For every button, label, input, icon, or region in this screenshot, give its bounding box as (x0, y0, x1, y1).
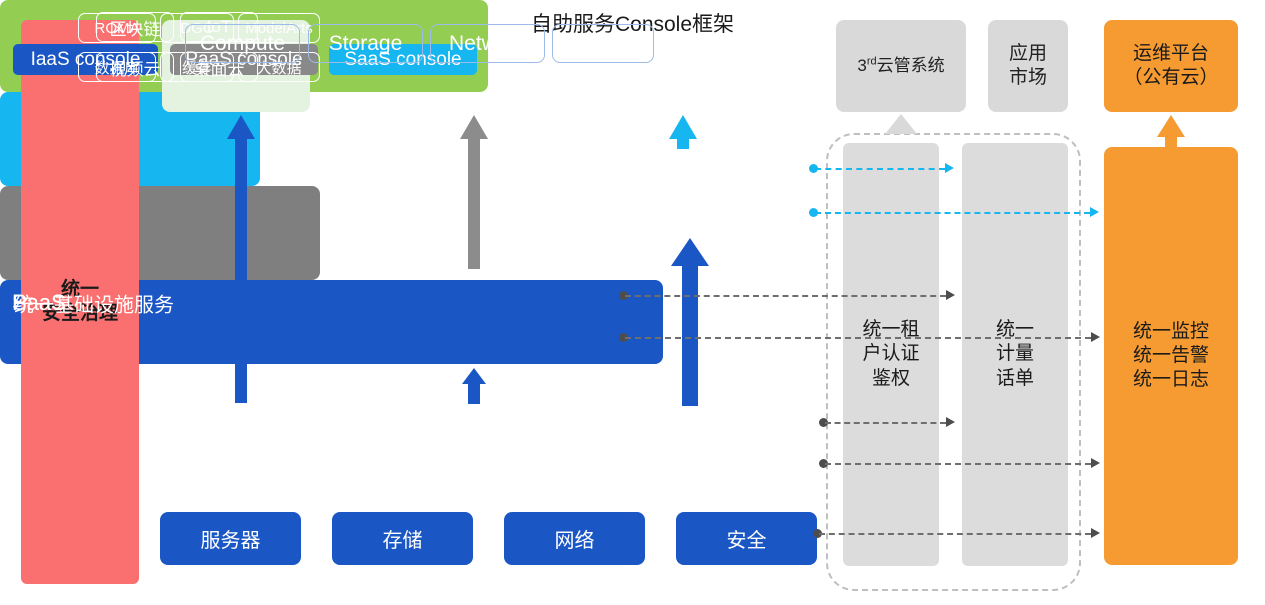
saas-ops-connector-line (815, 212, 1090, 214)
resource-box-network[interactable]: 网络 (504, 512, 645, 565)
paas-ops-connector-line (625, 337, 1091, 339)
unified-metering-label: 统一 计量 话单 (996, 318, 1034, 391)
third-party-cloud-mgmt-box: 3rd云管系统 (836, 20, 966, 112)
saas-auth-connector-arrow-icon (945, 163, 954, 173)
infra-ops-connector-line (825, 463, 1091, 465)
paas-service-database[interactable]: 数据库 (78, 52, 156, 82)
app-market-label: 应用 市场 (1009, 42, 1047, 90)
paas-auth-connector-arrow-icon (946, 290, 955, 300)
infra-to-saas-up-arrow-icon (669, 236, 711, 406)
paas-ops-connector-arrow-icon (1091, 332, 1100, 342)
infra-service-compute[interactable]: Compute (185, 24, 300, 63)
unified-infrastructure-label: 统一基础设施服务 (14, 288, 174, 317)
ops-monitoring-panel: 统一监控 统一告警 统一日志 (1104, 147, 1238, 565)
ops-platform-public-cloud-box: 运维平台 （公有云） (1104, 20, 1238, 112)
ops-platform-up-arrow-icon (1155, 113, 1187, 149)
third-party-cloud-mgmt-label: 3rd云管系统 (857, 55, 944, 76)
infra-service-network[interactable]: Network (430, 24, 545, 63)
infra-auth-connector-arrow-icon (946, 417, 955, 427)
resource-box-server[interactable]: 服务器 (160, 512, 301, 565)
resource-box-security[interactable]: 安全 (676, 512, 817, 565)
unified-metering-bar: 统一 计量 话单 (962, 143, 1068, 566)
resource-ops-connector-arrow-icon (1091, 528, 1100, 538)
unified-tenant-auth-label: 统一租 户认证 鉴权 (862, 318, 919, 391)
unified-tenant-auth-bar: 统一租 户认证 鉴权 (843, 143, 939, 566)
resource-ops-connector-line (819, 533, 1091, 535)
paas-auth-connector-line (625, 295, 946, 297)
ops-monitoring-label: 统一监控 统一告警 统一日志 (1133, 320, 1209, 391)
infra-to-paas-up-arrow-icon (460, 366, 488, 404)
paas-service-roma[interactable]: ROMA (78, 13, 156, 43)
infra-auth-connector-line (825, 422, 946, 424)
ops-platform-public-cloud-label: 运维平台 （公有云） (1123, 42, 1218, 90)
resource-box-storage[interactable]: 存储 (332, 512, 473, 565)
app-market-box: 应用 市场 (988, 20, 1068, 112)
paas-to-console-up-arrow-icon (458, 113, 490, 269)
saas-to-console-up-arrow-icon (667, 113, 699, 149)
third-party-up-arrow-icon (883, 112, 919, 138)
infra-service-storage[interactable]: Storage (308, 24, 423, 63)
saas-ops-connector-arrow-icon (1090, 207, 1099, 217)
api-gateway-up-arrow-icon (225, 113, 257, 403)
architecture-diagram: 统一 安全治理 API网关 自助服务Console框架 IaaS console… (0, 0, 1265, 605)
infra-ops-connector-arrow-icon (1091, 458, 1100, 468)
saas-auth-connector-line (815, 168, 945, 170)
infra-service-cce[interactable]: CCE (552, 24, 654, 63)
